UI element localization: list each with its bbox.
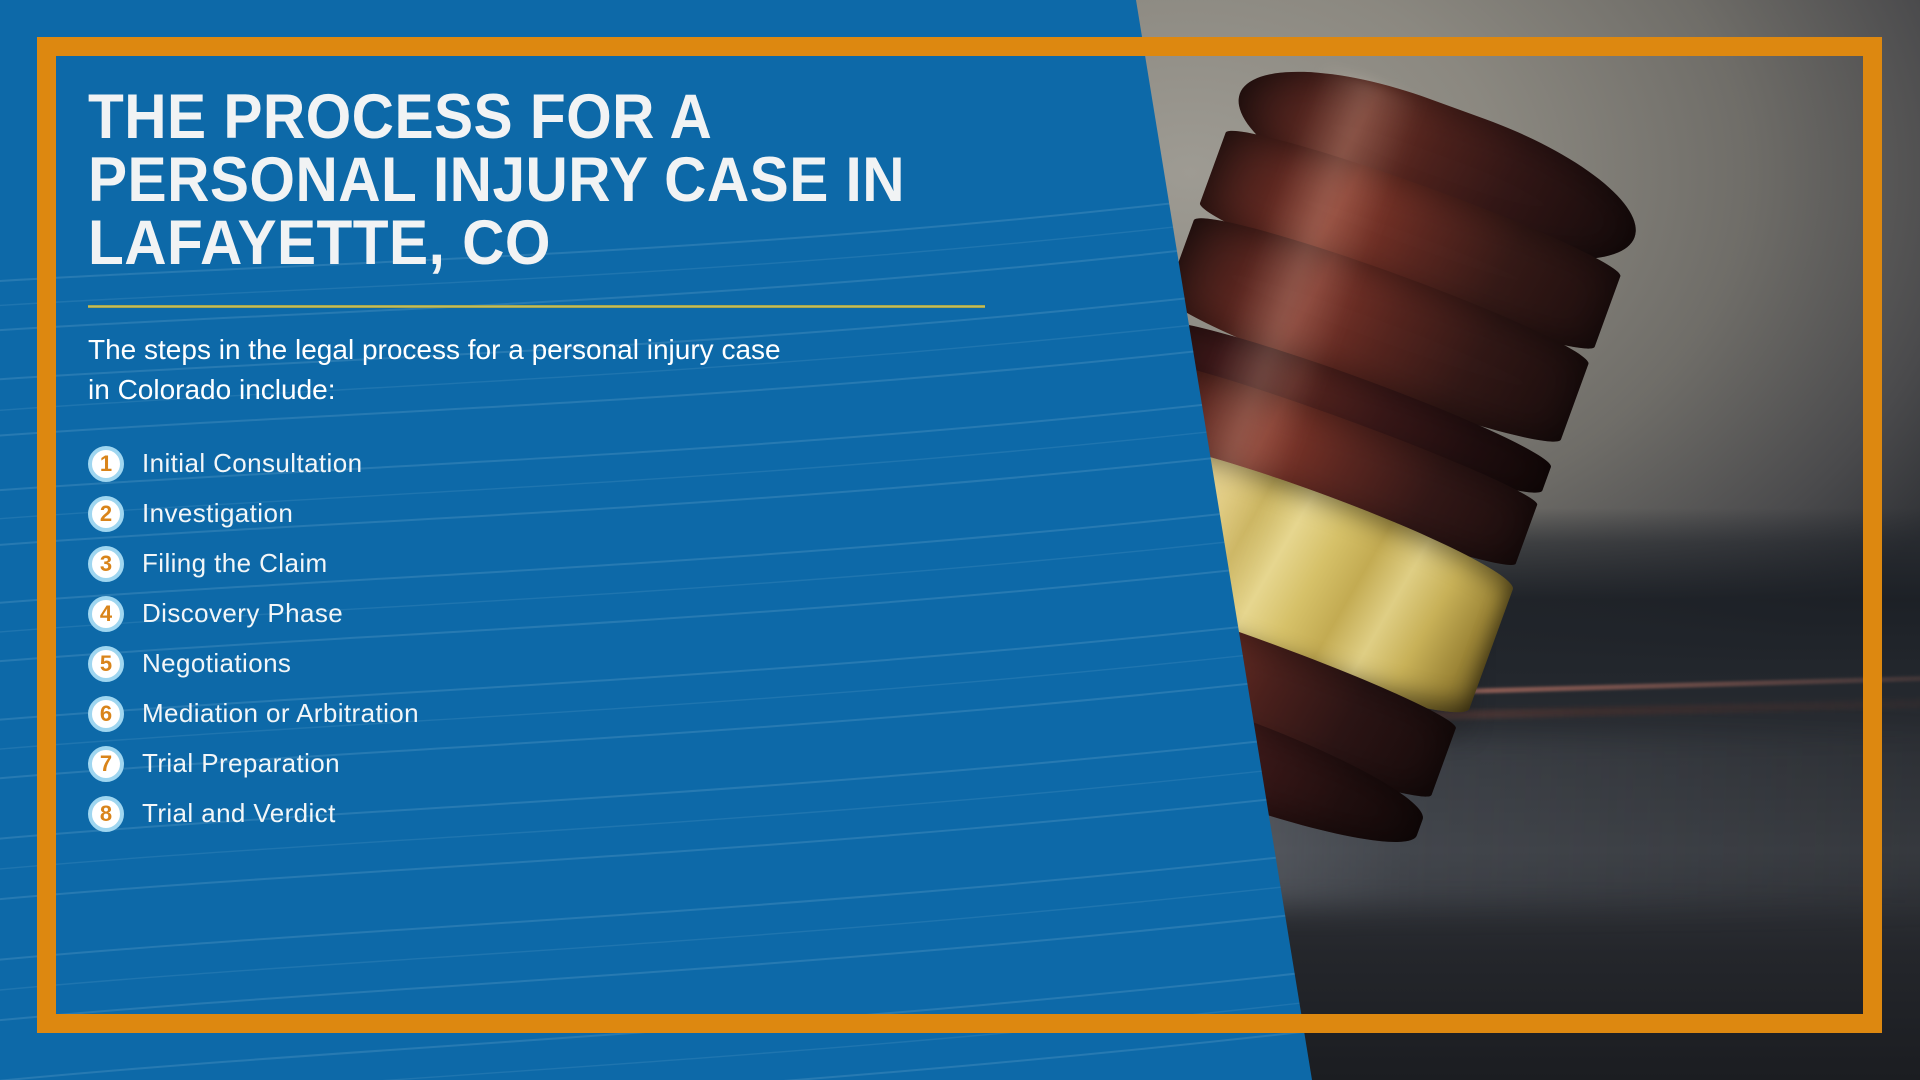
subtitle-text: The steps in the legal process for a per… bbox=[88, 330, 808, 411]
step-number-badge: 6 bbox=[88, 696, 124, 732]
step-label: Initial Consultation bbox=[142, 448, 362, 479]
step-label: Trial Preparation bbox=[142, 748, 340, 779]
step-label: Trial and Verdict bbox=[142, 798, 336, 829]
list-item: 6 Mediation or Arbitration bbox=[88, 689, 998, 739]
title-divider bbox=[88, 305, 985, 308]
step-number-badge: 4 bbox=[88, 596, 124, 632]
step-label: Filing the Claim bbox=[142, 548, 328, 579]
content-block: THE PROCESS FOR A PERSONAL INJURY CASE I… bbox=[88, 86, 998, 839]
list-item: 1 Initial Consultation bbox=[88, 439, 998, 489]
step-number-badge: 1 bbox=[88, 446, 124, 482]
steps-list: 1 Initial Consultation 2 Investigation 3… bbox=[88, 439, 998, 839]
page-title: THE PROCESS FOR A PERSONAL INJURY CASE I… bbox=[88, 86, 934, 275]
list-item: 5 Negotiations bbox=[88, 639, 998, 689]
step-label: Discovery Phase bbox=[142, 598, 343, 629]
list-item: 4 Discovery Phase bbox=[88, 589, 998, 639]
step-number-badge: 5 bbox=[88, 646, 124, 682]
infographic-canvas: THE PROCESS FOR A PERSONAL INJURY CASE I… bbox=[0, 0, 1920, 1080]
step-label: Negotiations bbox=[142, 648, 291, 679]
list-item: 2 Investigation bbox=[88, 489, 998, 539]
step-label: Investigation bbox=[142, 498, 293, 529]
step-number-badge: 3 bbox=[88, 546, 124, 582]
step-number-badge: 2 bbox=[88, 496, 124, 532]
list-item: 3 Filing the Claim bbox=[88, 539, 998, 589]
step-number-badge: 8 bbox=[88, 796, 124, 832]
list-item: 8 Trial and Verdict bbox=[88, 789, 998, 839]
list-item: 7 Trial Preparation bbox=[88, 739, 998, 789]
step-number-badge: 7 bbox=[88, 746, 124, 782]
step-label: Mediation or Arbitration bbox=[142, 698, 419, 729]
